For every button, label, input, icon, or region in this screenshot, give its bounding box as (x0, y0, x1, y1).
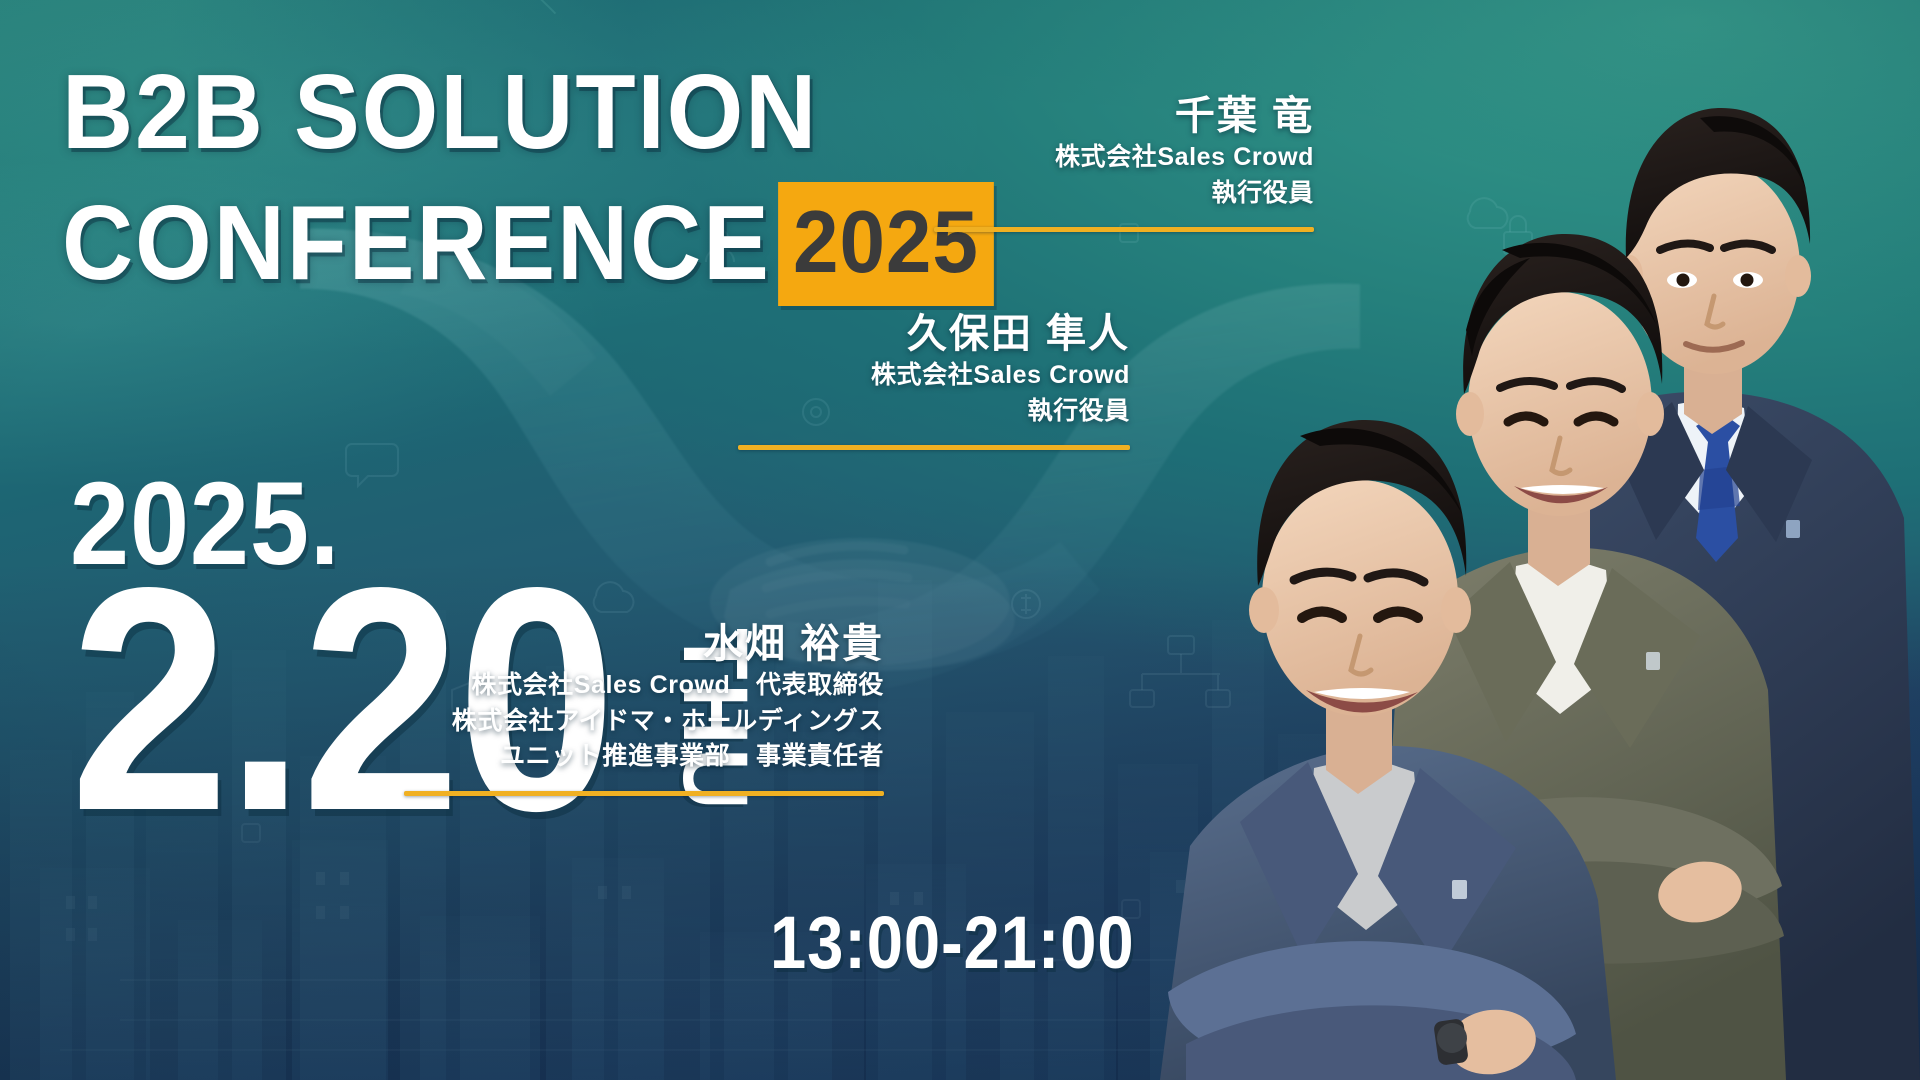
title-line-2-row: CONFERENCE 2025 (62, 182, 994, 306)
speaker-title: 執行役員 (738, 394, 1130, 430)
title-line-2: CONFERENCE (62, 193, 771, 295)
speaker-affiliation-secondary: 株式会社アイドマ・ホールディングス (404, 704, 884, 740)
speaker-block-2: 久保田 隼人 株式会社Sales Crowd 執行役員 (738, 310, 1130, 450)
speaker-block-1: 千葉 竜 株式会社Sales Crowd 執行役員 (934, 92, 1314, 232)
speaker-affiliation: 株式会社Sales Crowd 代表取締役 (404, 668, 884, 704)
speaker-title: ユニット推進事業部 事業責任者 (404, 739, 884, 775)
speaker-divider (934, 227, 1314, 232)
event-time: 13:00-21:00 (770, 900, 1134, 985)
speaker-affiliation: 株式会社Sales Crowd (934, 140, 1314, 176)
speaker-title: 執行役員 (934, 176, 1314, 212)
event-title: B2B SOLUTION CONFERENCE 2025 (62, 62, 1064, 306)
title-line-1: B2B SOLUTION (62, 62, 994, 164)
speaker-name: 久保田 隼人 (738, 310, 1130, 358)
speaker-name: 千葉 竜 (934, 92, 1314, 140)
speaker-divider (404, 791, 884, 796)
speaker-divider (738, 445, 1130, 450)
speaker-name: 水畑 裕貴 (404, 620, 884, 668)
speaker-block-3: 水畑 裕貴 株式会社Sales Crowd 代表取締役 株式会社アイドマ・ホール… (404, 620, 884, 796)
conference-banner: B2B SOLUTION CONFERENCE 2025 2025. 2.20 … (0, 0, 1920, 1080)
speaker-affiliation: 株式会社Sales Crowd (738, 358, 1130, 394)
